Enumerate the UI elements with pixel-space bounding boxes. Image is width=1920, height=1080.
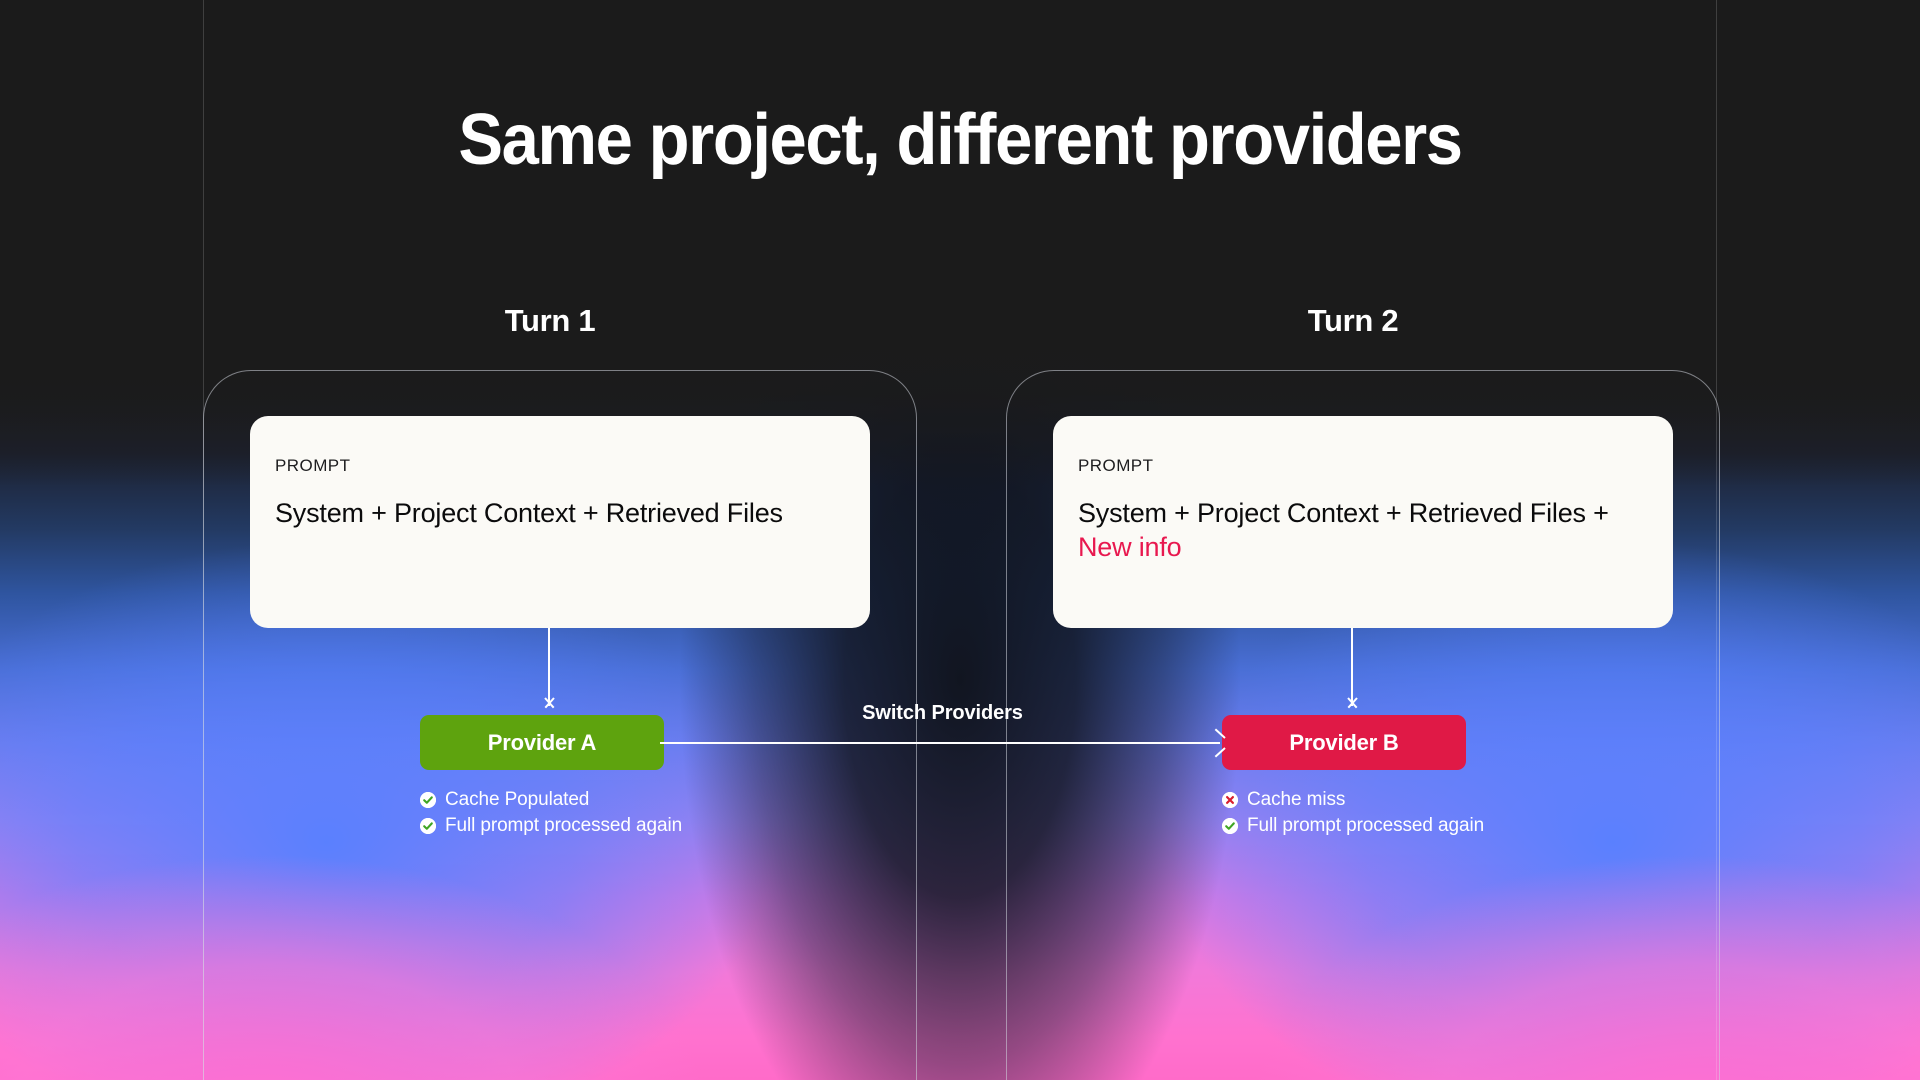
provider-a-button[interactable]: Provider A [420,715,664,770]
check-circle-icon [420,792,436,808]
turn-1-prompt-card: PROMPT System + Project Context + Retrie… [250,416,870,628]
turn-1-down-arrow [542,628,556,716]
provider-a-label: Provider A [488,730,596,756]
x-circle-icon [1222,792,1238,808]
status-item: Cache miss [1222,787,1484,812]
switch-providers-arrow [660,736,1225,750]
check-circle-icon [1222,818,1238,834]
turn-2-prompt-accent: New info [1078,532,1181,562]
check-circle-icon [420,818,436,834]
status-item: Full prompt processed again [420,813,682,838]
switch-arrow-shaft [660,742,1220,744]
diagram-canvas: Same project, different providers Turn 1… [0,0,1920,1080]
turn-1-arrow-shaft [548,628,550,706]
turn-1-status-list: Cache Populated Full prompt processed ag… [420,787,682,839]
status-item: Cache Populated [420,787,682,812]
turn-1-label: Turn 1 [400,303,700,339]
turn-2-status-list: Cache miss Full prompt processed again [1222,787,1484,839]
turn-1-prompt-text: System + Project Context + Retrieved Fil… [275,498,783,528]
turn-2-prompt-body: System + Project Context + Retrieved Fil… [1078,496,1648,565]
turn-2-down-arrow [1345,628,1359,716]
switch-providers-label: Switch Providers [660,702,1225,725]
turn-2-prompt-card: PROMPT System + Project Context + Retrie… [1053,416,1673,628]
page-title: Same project, different providers [67,104,1853,176]
arrow-down-icon [1345,698,1359,712]
arrow-right-icon [1211,736,1225,750]
status-label: Cache Populated [445,790,589,809]
turn-2-prompt-text: System + Project Context + Retrieved Fil… [1078,498,1609,528]
arrow-down-icon [542,698,556,712]
turn-2-label: Turn 2 [1203,303,1503,339]
provider-b-label: Provider B [1289,730,1398,756]
status-label: Cache miss [1247,790,1345,809]
turn-2-arrow-shaft [1351,628,1353,706]
turn-2-prompt-kicker: PROMPT [1078,457,1648,474]
turn-1-prompt-body: System + Project Context + Retrieved Fil… [275,496,845,530]
status-item: Full prompt processed again [1222,813,1484,838]
status-label: Full prompt processed again [445,816,682,835]
provider-b-button[interactable]: Provider B [1222,715,1466,770]
turn-1-prompt-kicker: PROMPT [275,457,845,474]
status-label: Full prompt processed again [1247,816,1484,835]
